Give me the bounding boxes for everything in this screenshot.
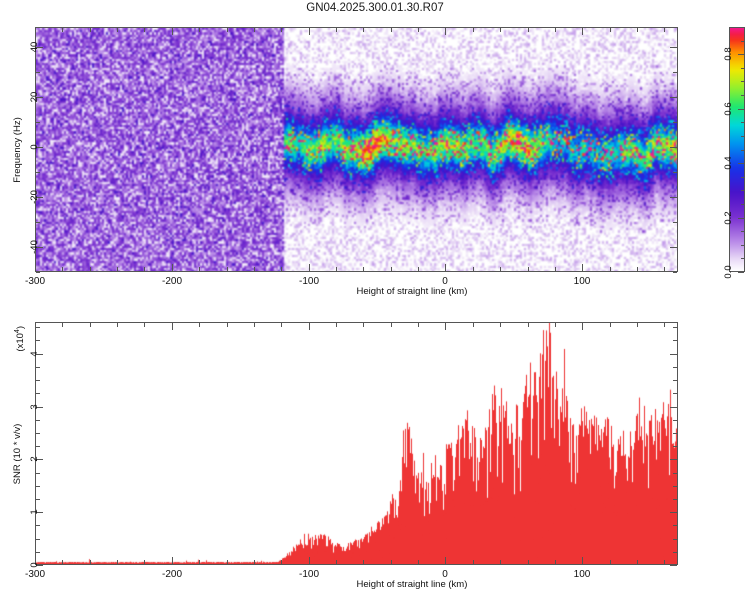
axis-tick [144,267,145,271]
y-tick-label: 0 [29,562,40,567]
axis-tick [363,267,364,271]
axis-tick [36,272,40,273]
axis-tick [473,323,474,327]
axis-tick [172,28,173,35]
axis-tick [670,407,677,408]
axis-tick [309,28,310,35]
y-tick-label: 4 [29,351,40,356]
axis-tick [254,323,255,327]
axis-tick [36,552,40,553]
axis-tick [281,560,282,564]
axis-tick [473,267,474,271]
x-tick-label: 100 [574,569,591,580]
spectrogram-x-axis-title: Height of straight line (km) [357,286,468,297]
axis-tick [555,28,556,32]
axis-tick [500,267,501,271]
axis-tick [528,267,529,271]
axis-tick [673,499,677,500]
axis-tick [673,539,677,540]
axis-tick [582,557,583,564]
axis-tick [555,323,556,327]
y-tick-label: 40 [29,42,40,53]
axis-tick [673,473,677,474]
axis-tick [418,267,419,271]
colorbar-tick [741,150,744,151]
y-tick-label: 20 [29,92,40,103]
axis-tick [582,323,583,330]
axis-tick [172,323,173,330]
page-title: GN04.2025.300.01.30.R07 [0,2,750,14]
axis-tick [610,267,611,271]
colorbar-tick [741,231,744,232]
axis-tick [500,560,501,564]
axis-tick [664,560,665,564]
x-tick-label: -300 [25,569,45,580]
axis-tick [199,267,200,271]
axis-tick [363,560,364,564]
axis-tick [62,323,63,327]
axis-tick [281,267,282,271]
axis-tick [391,28,392,32]
axis-tick [664,323,665,327]
x-tick-label: -100 [299,569,319,580]
axis-tick [418,560,419,564]
axis-tick [637,267,638,271]
axis-tick [336,267,337,271]
axis-tick [670,354,677,355]
axis-tick [254,28,255,32]
axis-tick [36,525,40,526]
axis-tick [670,247,677,248]
x-tick-label: 100 [574,276,591,287]
snr-trace [36,323,677,564]
axis-tick [36,380,40,381]
axis-tick [670,459,677,460]
axis-tick [500,323,501,327]
axis-tick [309,557,310,564]
axis-tick [36,393,40,394]
axis-tick [673,340,677,341]
axis-tick [673,393,677,394]
axis-tick [391,323,392,327]
colorbar-tick [741,258,744,259]
axis-tick [254,267,255,271]
axis-tick [670,47,677,48]
axis-tick [35,264,36,271]
axis-tick [670,147,677,148]
axis-tick [36,433,40,434]
axis-tick [309,323,310,330]
axis-tick [673,172,677,173]
axis-tick [673,433,677,434]
spectrogram-canvas-wrap [36,28,677,271]
axis-tick [673,72,677,73]
axis-tick [637,323,638,327]
axis-tick [582,264,583,271]
snr-canvas-wrap [36,323,677,564]
x-tick-label: -200 [162,276,182,287]
spectrogram-image [36,28,677,271]
axis-tick [62,267,63,271]
axis-tick [528,323,529,327]
axis-tick [673,525,677,526]
colorbar-tick [738,272,744,273]
axis-tick [90,267,91,271]
axis-tick [670,97,677,98]
axis-tick [610,28,611,32]
axis-tick [445,264,446,271]
axis-tick [36,486,40,487]
x-tick-label: -200 [162,569,182,580]
colorbar-tick [738,218,744,219]
axis-tick [62,28,63,32]
axis-tick [673,552,677,553]
axis-tick [363,323,364,327]
axis-tick [673,446,677,447]
y-tick-label: -20 [29,190,40,204]
axis-tick [582,28,583,35]
axis-tick [336,28,337,32]
axis-tick [673,222,677,223]
y-tick-label: 1 [29,509,40,514]
axis-tick [610,323,611,327]
axis-tick [637,560,638,564]
axis-tick [36,172,40,173]
axis-tick [36,420,40,421]
axis-tick [36,222,40,223]
x-tick-label: -300 [25,276,45,287]
axis-tick [36,367,40,368]
axis-tick [36,340,40,341]
axis-tick [418,28,419,32]
colorbar-tick [741,95,744,96]
y-tick-label: -40 [29,240,40,254]
axis-tick [445,557,446,564]
axis-tick [610,560,611,564]
axis-tick [227,28,228,32]
axis-tick [227,560,228,564]
colorbar-tick-label: 0.4 [723,156,734,169]
colorbar-tick-label: 0.8 [723,47,734,60]
axis-tick [117,323,118,327]
axis-tick [117,560,118,564]
axis-tick [528,560,529,564]
y-tick-label: 2 [29,456,40,461]
colorbar-tick [741,177,744,178]
axis-tick [673,122,677,123]
snr-y-exponent-label: (x104) [14,326,26,352]
colorbar-tick [741,204,744,205]
axis-tick [36,72,40,73]
axis-tick [670,197,677,198]
axis-tick [62,560,63,564]
axis-tick [281,28,282,32]
axis-tick [336,560,337,564]
colorbar-tick [741,81,744,82]
axis-tick [199,560,200,564]
axis-tick [36,539,40,540]
axis-tick [199,323,200,327]
axis-tick [172,264,173,271]
axis-tick [90,323,91,327]
axis-tick [309,264,310,271]
colorbar-tick [741,41,744,42]
axis-tick [363,28,364,32]
axis-tick [36,122,40,123]
axis-tick [664,28,665,32]
axis-tick [528,28,529,32]
axis-tick [500,28,501,32]
colorbar-tick [741,245,744,246]
axis-tick [637,28,638,32]
axis-tick [117,267,118,271]
axis-tick [391,267,392,271]
y-tick-label: 3 [29,404,40,409]
axis-tick [445,28,446,35]
x-tick-label: -100 [299,276,319,287]
y-tick-label: 0 [29,144,40,149]
axis-tick [36,473,40,474]
axis-tick [555,560,556,564]
spectrogram-y-axis-title: Frequency (Hz) [12,117,23,182]
axis-tick [391,560,392,564]
colorbar-tick [741,136,744,137]
axis-tick [199,28,200,32]
axis-tick [36,446,40,447]
axis-tick [445,323,446,330]
axis-tick [673,420,677,421]
axis-tick [90,560,91,564]
axis-tick [281,323,282,327]
colorbar-tick [741,27,744,28]
axis-tick [227,323,228,327]
axis-tick [117,28,118,32]
axis-tick [555,267,556,271]
axis-tick [144,560,145,564]
axis-tick [172,557,173,564]
axis-tick [673,380,677,381]
snr-y-axis-title: SNR (10 * v/v) [12,423,23,484]
axis-tick [673,486,677,487]
axis-tick [36,499,40,500]
axis-tick [90,28,91,32]
axis-tick [254,560,255,564]
axis-tick [673,367,677,368]
axis-tick [670,512,677,513]
axis-tick [673,327,677,328]
colorbar-tick-label: 0.6 [723,102,734,115]
colorbar-tick [741,68,744,69]
snr-x-axis-title: Height of straight line (km) [357,579,468,590]
axis-tick [473,28,474,32]
colorbar-tick [738,163,744,164]
colorbar-tick [741,122,744,123]
colorbar-tick-label: 0.2 [723,211,734,224]
colorbar-tick [738,54,744,55]
colorbar-tick-label: 0.0 [723,265,734,278]
axis-tick [473,560,474,564]
axis-tick [227,267,228,271]
axis-tick [144,323,145,327]
axis-tick [418,323,419,327]
axis-tick [144,28,145,32]
colorbar-tick [738,109,744,110]
axis-tick [664,267,665,271]
axis-tick [336,323,337,327]
axis-tick [36,327,40,328]
axis-tick [35,28,36,35]
colorbar-tick [741,190,744,191]
axis-tick [670,565,677,566]
axis-tick [673,272,677,273]
